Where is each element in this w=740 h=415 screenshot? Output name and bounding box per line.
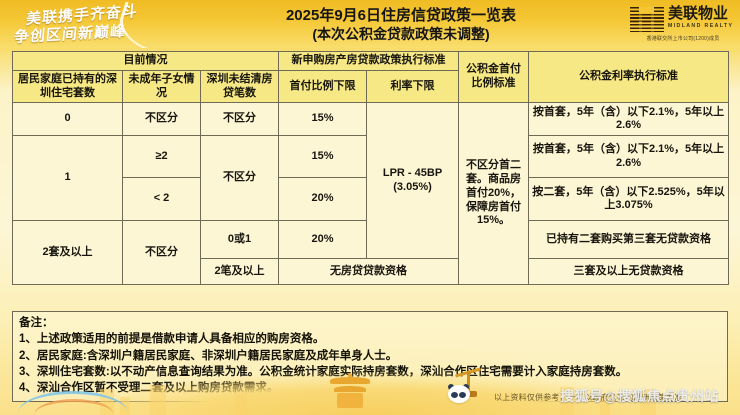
header-fund-downpayment-ratio: 公积金首付比例标准	[459, 52, 529, 103]
cell-unsettled-loans: 不区分	[201, 103, 279, 136]
cell-fund-rate: 已持有二套购买第三套无贷款资格	[529, 221, 729, 259]
cell-minor-children: 不区分	[123, 103, 201, 136]
header-rate-min: 利率下限	[367, 70, 459, 103]
policy-table-container: 目前情况 新申购房产房贷款政策执行标准 公积金首付比例标准 公积金利率执行标准 …	[12, 51, 728, 285]
cell-unsettled-loans: 2笔及以上	[201, 259, 279, 285]
rate-min-line-1: LPR - 45BP	[369, 167, 456, 181]
cell-fund-downpayment: 不区分首二套。商品房首付20%，保障房首付15%。	[459, 103, 529, 285]
table-body: 0 不区分 不区分 15% LPR - 45BP (3.05%) 不区分首二套。…	[13, 103, 729, 285]
cell-unsettled-loans: 不区分	[201, 136, 279, 221]
cell-minor-children: < 2	[123, 178, 201, 221]
header-owned-units: 居民家庭已持有的深圳住宅套数	[13, 70, 123, 103]
cell-no-loan-qualification: 无房贷贷款资格	[279, 259, 459, 285]
logo-subtitle: 香港联交所上市公司(1200)成员	[630, 35, 736, 42]
cell-fund-rate: 按首套，5年（含）以下2.1%，5年以上2.6%	[529, 103, 729, 136]
housing-credit-policy-table: 目前情况 新申购房产房贷款政策执行标准 公积金首付比例标准 公积金利率执行标准 …	[12, 51, 729, 285]
cell-owned-units: 2套及以上	[13, 221, 123, 285]
page-title-line-2: (本次公积金贷款政策未调整)	[312, 26, 489, 44]
calligraphy-line-2: 争创区间新巅峰	[13, 20, 127, 47]
calligraphy-slogan: 美联携手齐奋斗 争创区间新巅峰	[6, 2, 206, 48]
header-minor-children: 未成年子女情况	[123, 70, 201, 103]
header-new-purchase-standard: 新申购房产房贷款政策执行标准	[279, 52, 459, 71]
cell-fund-rate: 三套及以上无贷款资格	[529, 259, 729, 285]
table-group-header-row: 目前情况 新申购房产房贷款政策执行标准 公积金首付比例标准 公积金利率执行标准	[13, 52, 729, 71]
logo-english-name: MIDLAND REALTY	[668, 23, 733, 29]
midland-realty-logo: 美联物业 MIDLAND REALTY 香港联交所上市公司(1200)成员	[630, 6, 736, 44]
note-item: 3、深圳住宅套数:以不动产信息查询结果为准。公积金统计家庭实际持房套数，深汕合作…	[19, 364, 721, 380]
cell-downpayment-min: 15%	[279, 103, 367, 136]
cell-downpayment-min: 20%	[279, 221, 367, 259]
cell-downpayment-min: 20%	[279, 178, 367, 221]
logo-text-block: 美联物业 MIDLAND REALTY	[668, 6, 733, 29]
cell-minor-children: ≥2	[123, 136, 201, 178]
cell-rate-min: LPR - 45BP (3.05%)	[367, 103, 459, 259]
rate-min-line-2: (3.05%)	[369, 181, 456, 195]
cell-fund-rate: 按首套，5年（含）以下2.1%，5年以上2.6%	[529, 136, 729, 178]
header-fund-rate-standard: 公积金利率执行标准	[529, 52, 729, 103]
notes-title: 备注：	[19, 315, 721, 331]
cell-owned-units: 0	[13, 103, 123, 136]
note-item: 2、居民家庭:含深圳户籍居民家庭、非深圳户籍居民家庭及成年单身人士。	[19, 348, 721, 364]
logo-chinese-name: 美联物业	[668, 6, 733, 22]
header-downpayment-min: 首付比例下限	[279, 70, 367, 103]
page-title-line-1: 2025年9月6日住房信贷政策一览表	[286, 6, 516, 25]
note-item: 1、上述政策适用的前提是借款申请人具备相应的购房资格。	[19, 331, 721, 347]
cell-downpayment-min: 15%	[279, 136, 367, 178]
sohu-watermark: 搜狐号@搜狐焦点贵州站	[560, 386, 719, 406]
header-unsettled-loans: 深圳未结清房贷笔数	[201, 70, 279, 103]
cell-fund-rate: 按二套，5年（含）以下2.525%，5年以上3.075%	[529, 178, 729, 221]
cell-minor-children: 不区分	[123, 221, 201, 285]
cell-owned-units: 1	[13, 136, 123, 221]
top-banner: 美联携手齐奋斗 争创区间新巅峰 2025年9月6日住房信贷政策一览表 (本次公积…	[0, 0, 740, 48]
table-header: 目前情况 新申购房产房贷款政策执行标准 公积金首付比例标准 公积金利率执行标准 …	[13, 52, 729, 103]
table-row: 0 不区分 不区分 15% LPR - 45BP (3.05%) 不区分首二套。…	[13, 103, 729, 136]
cell-unsettled-loans: 0或1	[201, 221, 279, 259]
header-current-situation: 目前情况	[13, 52, 279, 71]
midland-logo-icon	[630, 7, 664, 32]
page-title: 2025年9月6日住房信贷政策一览表 (本次公积金贷款政策未调整)	[186, 3, 616, 47]
